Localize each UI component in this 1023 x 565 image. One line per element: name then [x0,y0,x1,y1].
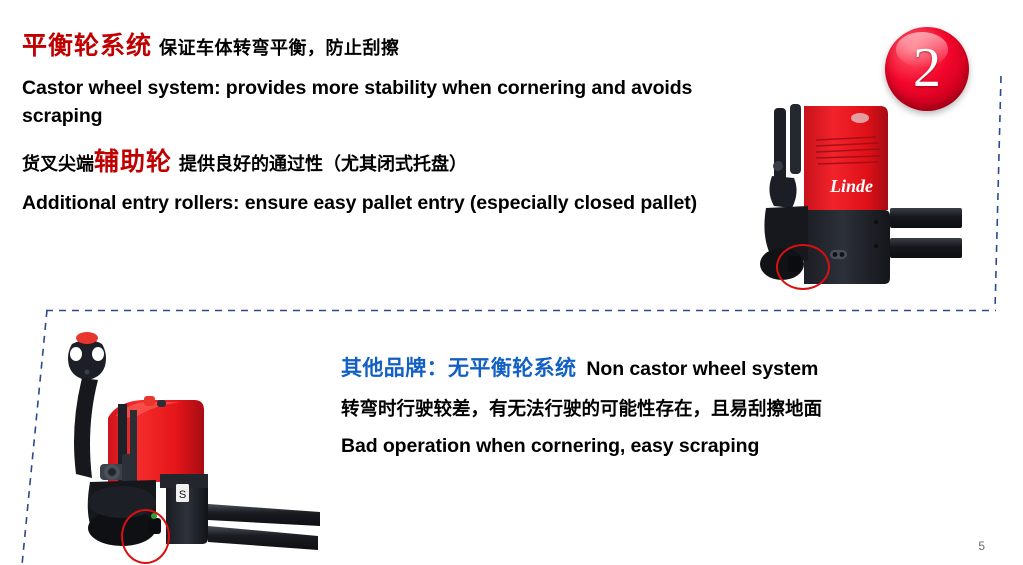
feature-cn-keyword: 平衡轮系统 [22,32,152,60]
slide-canvas: 平衡轮系统保证车体转弯平衡，防止刮擦 Castor wheel system: … [0,0,1023,565]
feature-cn-line-2-rest: 提供良好的通过性（尤其闭式托盘） [172,154,467,174]
charge-socket-icon [830,250,847,259]
feature-cn-heading: 平衡轮系统保证车体转弯平衡，防止刮擦 [22,30,737,64]
feature-cn-heading-rest: 保证车体转弯平衡，防止刮擦 [152,38,400,58]
frame-line-right [995,76,1001,310]
comparison-cn-line: 转弯时行驶较差，有无法行驶的可能性存在，且易刮擦地面 [341,397,941,422]
linde-pallet-truck-image: Linde [752,104,962,292]
feature-cn-line-2-keyword: 辅助轮 [94,148,172,176]
castor-wheel-highlight-top [776,244,830,290]
competitor-pallet-truck-image: S [56,332,324,560]
comparison-text-block: 其他品牌：无平衡轮系统Non castor wheel system 转弯时行驶… [341,355,941,465]
linde-brand-wordmark: Linde [829,176,873,196]
competitor-pallet-truck-illustration: S [56,332,324,560]
frame-line-left [22,310,47,565]
feature-en-line-2: Additional entry rollers: ensure easy pa… [22,190,737,216]
step-number-badge: 2 [885,27,969,111]
feature-text-block: 平衡轮系统保证车体转弯平衡，防止刮擦 Castor wheel system: … [22,30,737,222]
feature-cn-line-2: 货叉尖端辅助轮提供良好的通过性（尤其闭式托盘） [22,146,737,180]
feature-cn-line-2-lead: 货叉尖端 [22,154,94,174]
feature-en-line-1: Castor wheel system: provides more stabi… [22,74,737,131]
comparison-en-line: Bad operation when cornering, easy scrap… [341,433,941,459]
page-number: 5 [978,539,985,553]
castor-wheel-highlight-bottom [121,509,170,564]
comparison-heading: 其他品牌：无平衡轮系统Non castor wheel system [341,355,941,383]
step-number-label: 2 [913,40,941,96]
tiller-head [68,332,106,380]
comparison-cn-heading: 其他品牌：无平衡轮系统 [341,357,576,380]
comparison-en-heading: Non castor wheel system [576,358,818,380]
capacity-plate-label: S [179,489,186,501]
